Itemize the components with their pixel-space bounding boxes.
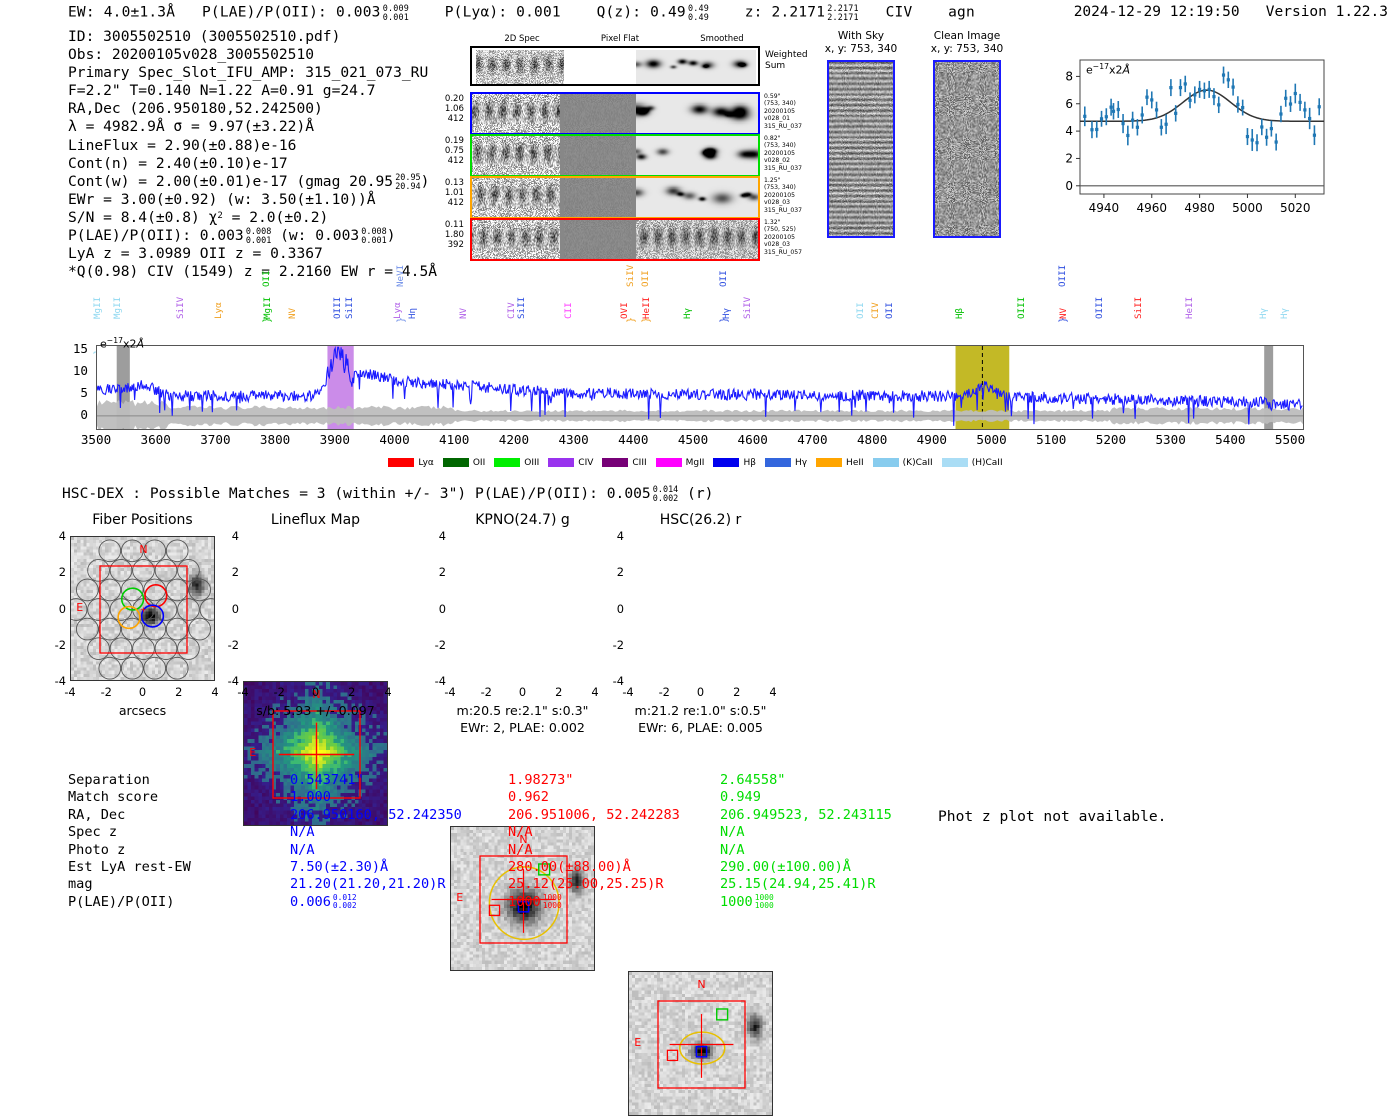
- weighted-sum-label-line-0: Weighted: [765, 50, 808, 61]
- cutout-2-xtick-1: -2: [474, 685, 498, 699]
- fiber-smoothed-1: [636, 94, 758, 133]
- svg-text:N: N: [697, 978, 705, 991]
- spectrum-xtick-4400: 4400: [603, 432, 663, 447]
- fiber-stats-3: 0.131.01412: [412, 178, 464, 209]
- legend-label-hγ: Hγ: [795, 458, 807, 468]
- spectrum-ytick-10: 10: [62, 363, 88, 378]
- match-cell-1-3: N/A: [508, 824, 680, 841]
- legend-item-heii: HeII: [816, 458, 864, 468]
- legend-label-(h)caii: (H)CaII: [972, 458, 1003, 468]
- spectrum-ytick-15: 15: [62, 341, 88, 356]
- with-sky-title-block: With Skyx, y: 753, 340: [815, 30, 907, 55]
- cutout-1-xtick-3: 2: [340, 685, 364, 699]
- legend-label-(k)caii: (K)CaII: [903, 458, 933, 468]
- cutout-1-ytick-2: 0: [221, 602, 239, 616]
- cutout-0-ytick-2: 0: [48, 602, 66, 616]
- legend-label-heii: HeII: [846, 458, 864, 468]
- spectrum-xtick-3800: 3800: [245, 432, 305, 447]
- svg-text:N: N: [139, 543, 147, 556]
- cutout-0-ytick-1: 2: [48, 565, 66, 579]
- photz-note: Phot z plot not available.: [938, 808, 1166, 825]
- legend-label-oii: OII: [473, 458, 485, 468]
- weighted-sum-row: [470, 46, 760, 86]
- match-cell-2-0: 2.64558": [720, 772, 892, 789]
- fiber-w-2: 0.19: [412, 136, 464, 146]
- spec2d-title-0: 2D Spec: [482, 34, 562, 44]
- spectrum-xtick-3500: 3500: [66, 432, 126, 447]
- legend-swatch-civ: [548, 458, 574, 467]
- match-row-label-2: RA, Dec: [68, 807, 191, 824]
- spectrum-line-label-siiv-2: SiIV: [175, 297, 186, 319]
- spectrum-line-label-lyα-3: Lyα: [213, 302, 224, 319]
- legend-item-lyα: Lyα: [388, 458, 433, 468]
- spectrum-xtick-5000: 5000: [962, 432, 1022, 447]
- spectrum-line-label-siiv-16: SiIV: [625, 265, 636, 287]
- cutout-0-xtick-2: 0: [131, 685, 155, 699]
- spectrum-xtick-5100: 5100: [1021, 432, 1081, 447]
- clean-image-coords: x, y: 753, 340: [921, 43, 1013, 56]
- fiber-meta-line-4-3: v028_03: [764, 241, 824, 248]
- fiber-n-3: 412: [412, 198, 464, 208]
- spectrum-ytick-5: 5: [62, 385, 88, 400]
- fiber-pixelflat-3: [564, 178, 632, 217]
- spectrum-xtick-4800: 4800: [842, 432, 902, 447]
- header-plae-lo: 0.001: [383, 12, 409, 22]
- spec2d-title-2: Smoothed: [682, 34, 762, 44]
- linefit-ylabel: e−17x2Å: [1086, 62, 1130, 77]
- svg-text:+: +: [141, 606, 147, 616]
- spectrum-line-label-oii-18: OII: [640, 270, 651, 287]
- match-row-label-4: Photo z: [68, 842, 191, 859]
- match-row-label-7: P(LAE)/P(OII): [68, 894, 191, 911]
- fiber-d-2: 0.75: [412, 146, 464, 156]
- spectrum-xtick-5500: 5500: [1260, 432, 1320, 447]
- cutout-1-xtick-4: 4: [376, 685, 400, 699]
- fiber-meta-line-2-4: 315_RU_037: [764, 165, 824, 172]
- spectrum-line-label-oiii-28: OIII: [1016, 297, 1027, 319]
- cutout-1-xtick-2: 0: [304, 685, 328, 699]
- match-row-label-6: mag: [68, 876, 191, 893]
- match-cell-1-6: 25.12(25.00,25.25)R: [508, 876, 680, 893]
- cutout-1-ytick-0: 4: [221, 529, 239, 543]
- spectrum-ylabel: e−17x2Å: [100, 336, 144, 351]
- fiber-meta-line-3-1: (753, 340): [764, 184, 824, 191]
- match-cell-0-5: 7.50(±2.30)Å: [290, 859, 462, 876]
- cutout-1-xtick-1: -2: [267, 685, 291, 699]
- match-cell-2-6: 25.15(24.94,25.41)R: [720, 876, 892, 893]
- spec2d-title-1: Pixel Flat: [580, 34, 660, 44]
- with-sky-title: With Sky: [815, 30, 907, 43]
- fiber-stats-1: 0.201.06412: [412, 94, 464, 125]
- match-cell-2-7: 100010001000: [720, 894, 892, 911]
- cutout-2-ytick-2: 0: [428, 602, 446, 616]
- spectrum-line-label-mgii-1: MgII: [112, 297, 123, 319]
- spectrum-line-label-siii-14: SiII: [516, 297, 527, 319]
- header-summary-line: EW: 4.0±1.3Å P(LAE)/P(OII): 0.0030.0090.…: [68, 4, 975, 21]
- timestamp: 2024-12-29 12:19:50: [1074, 4, 1240, 20]
- header-ew: EW: 4.0±1.3Å: [68, 5, 175, 21]
- legend-item-(k)caii: (K)CaII: [873, 458, 933, 468]
- fiber-d-4: 1.80: [412, 230, 464, 240]
- header-plae-value: 0.003: [336, 5, 381, 21]
- spectrum-line-label-hγ-22: Hγ: [721, 308, 732, 319]
- version-label: Version 1.22.3: [1266, 4, 1388, 20]
- cutout-3-xtick-2: 0: [689, 685, 713, 699]
- legend-item-oii: OII: [443, 458, 485, 468]
- spectrum-line-label-mgii-0: MgII: [92, 297, 103, 319]
- legend-label-mgii: MgII: [686, 458, 705, 468]
- svg-text:4980: 4980: [1184, 201, 1215, 215]
- cutout-caption-3-1: EWr: 6, PLAE: 0.005: [598, 720, 803, 735]
- cutout-1-ytick-1: 2: [221, 565, 239, 579]
- full-spectrum-plot: [96, 345, 1304, 430]
- emission-line-fit-plot: 0246849404960498050005020e−17x2Å: [1040, 48, 1332, 232]
- cutout-0-ytick-3: -2: [48, 638, 66, 652]
- info-ewr: EWr = 3.00(±0.92) (w: 3.50(±1.10))Å: [68, 191, 437, 209]
- fiber-meta-2: 0.82"(753, 340)20200105v028_02315_RU_037: [764, 135, 824, 172]
- match-cell-0-0: 0.543741": [290, 772, 462, 789]
- spectrum-xtick-4600: 4600: [723, 432, 783, 447]
- cutout-2-xtick-2: 0: [511, 685, 535, 699]
- fiber-meta-line-2-0: 0.82": [764, 135, 824, 142]
- cutout-0-xtick-1: -2: [94, 685, 118, 699]
- match-cell-2-3: N/A: [720, 824, 892, 841]
- info-seeing: F=2.2" T=0.140 N=1.22 A=0.91 g=24.7: [68, 82, 437, 100]
- legend-label-hβ: Hβ: [743, 458, 756, 468]
- spectrum-line-label-siii-32: SiII: [1133, 297, 1144, 319]
- header-agn: agn: [948, 5, 975, 21]
- with-sky-coords: x, y: 753, 340: [815, 43, 907, 56]
- legend-label-lyα: Lyα: [418, 458, 433, 468]
- spectrum-line-label-oii-26: OII: [884, 302, 895, 319]
- fiber-stats-4: 0.111.80392: [412, 220, 464, 251]
- legend-swatch-oiii: [494, 458, 520, 467]
- match-cell-0-7: 0.0060.0120.002: [290, 894, 462, 911]
- spectrum-xtick-4900: 4900: [902, 432, 962, 447]
- match-cell-0-6: 21.20(21.20,21.20)R: [290, 876, 462, 893]
- cutout-2-xtick-3: 2: [547, 685, 571, 699]
- cutout-0-ytick-4: -4: [48, 674, 66, 688]
- fiber-meta-line-3-2: 20200105: [764, 192, 824, 199]
- fiber-2dspec-1: [472, 94, 560, 133]
- fiber-meta-line-1-3: v028_01: [764, 115, 824, 122]
- legend-item-(h)caii: (H)CaII: [942, 458, 1003, 468]
- legend-swatch-hγ: [765, 458, 791, 467]
- svg-text:6: 6: [1065, 97, 1073, 111]
- header-qz: Q(z): 0.49: [597, 5, 686, 21]
- fiber-pixelflat-1: [564, 94, 632, 133]
- match-cell-1-5: 280.00(±88.00)Å: [508, 859, 680, 876]
- weighted-sum-label: WeightedSum: [765, 50, 808, 72]
- info-obs: Obs: 20200105v028_3005502510: [68, 46, 437, 64]
- hscdex-summary: HSC-DEX : Possible Matches = 3 (within +…: [62, 485, 713, 503]
- svg-text:8: 8: [1065, 69, 1073, 83]
- fiber-meta-4: 1.32"(750, 525)20200105v028_03315_RU_057: [764, 219, 824, 256]
- clean-image-cutout: [933, 60, 1001, 238]
- legend-label-ciii: CIII: [632, 458, 646, 468]
- match-column-0: 0.543741"1.000206.950160, 52.242350N/AN/…: [290, 772, 462, 911]
- header-z-lo: 2.2171: [827, 12, 859, 22]
- fiber-2dspec-2: [472, 136, 560, 175]
- spectrum-line-label-oii-21: OII: [718, 270, 729, 287]
- fiber-2dspec-3: [472, 178, 560, 217]
- fiber-meta-line-4-2: 20200105: [764, 234, 824, 241]
- spectrum-line-label-heii-33: HeII: [1184, 297, 1195, 319]
- weighted-sum-smoothed: [636, 50, 756, 84]
- fiber-smoothed-3: [636, 178, 758, 217]
- timestamp-version: 2024-12-29 12:19:50 Version 1.22.3: [1074, 4, 1388, 20]
- header-civ: CIV: [886, 5, 913, 21]
- match-cell-1-7: 100010001000: [508, 894, 680, 911]
- spectrum-line-label-hγ-20: Hγ: [682, 308, 693, 319]
- cutout-0-xtick-3: 2: [167, 685, 191, 699]
- svg-text:E: E: [634, 1036, 641, 1049]
- fiber-n-2: 412: [412, 156, 464, 166]
- cutout-caption-2-1: EWr: 2, PLAE: 0.002: [420, 720, 625, 735]
- spectrum-x-axis: 3500360037003800390040004100420043004400…: [0, 430, 1400, 454]
- match-cell-0-1: 1.000: [290, 789, 462, 806]
- svg-text:E: E: [76, 601, 83, 614]
- info-plae: P(LAE)/P(OII): 0.0030.0080.001 (w: 0.003…: [68, 227, 437, 245]
- header-z: z: 2.2171: [745, 5, 825, 21]
- spectrum-xtick-3700: 3700: [185, 432, 245, 447]
- info-redshifts: LyA z = 3.0989 OII z = 0.3367: [68, 245, 437, 263]
- match-row-label-0: Separation: [68, 772, 191, 789]
- weighted-sum-2dspec: [476, 50, 564, 84]
- spectrum-xtick-4300: 4300: [544, 432, 604, 447]
- spectrum-line-label-siiv-23: SiIV: [742, 297, 753, 319]
- spectrum-xtick-4100: 4100: [424, 432, 484, 447]
- object-info-block: ID: 3005502510 (3005502510.pdf) Obs: 202…: [68, 28, 437, 281]
- cutout-1-ytick-3: -2: [221, 638, 239, 652]
- spectrum-line-label-hβ-27: Hβ: [954, 308, 965, 319]
- fiber-w-3: 0.13: [412, 178, 464, 188]
- spectrum-xtick-4700: 4700: [782, 432, 842, 447]
- svg-text:5020: 5020: [1280, 201, 1311, 215]
- cutout-caption-3-0: m:21.2 re:1.0" s:0.5": [598, 703, 803, 718]
- match-row-label-1: Match score: [68, 789, 191, 806]
- fiber-w-1: 0.20: [412, 94, 464, 104]
- cutout-2-ytick-4: -4: [428, 674, 446, 688]
- cutout-title-2: KPNO(24.7) g: [420, 512, 625, 528]
- legend-swatch-(h)caii: [942, 458, 968, 467]
- svg-text:4960: 4960: [1136, 201, 1167, 215]
- match-table-row-labels: SeparationMatch scoreRA, DecSpec zPhoto …: [68, 772, 191, 911]
- fiber-row-1: [470, 92, 760, 135]
- match-row-label-5: Est LyA rest-EW: [68, 859, 191, 876]
- spectrum-xtick-4500: 4500: [663, 432, 723, 447]
- legend-swatch-oii: [443, 458, 469, 467]
- fiber-meta-line-1-4: 315_RU_037: [764, 123, 824, 130]
- svg-text:4940: 4940: [1089, 201, 1120, 215]
- fiber-smoothed-4: [636, 220, 758, 259]
- cutout-image-3: NE: [628, 971, 773, 1116]
- legend-swatch-mgii: [656, 458, 682, 467]
- match-cell-0-3: N/A: [290, 824, 462, 841]
- spectrum-line-label-hη-11: Hη: [407, 308, 418, 319]
- spectrum-line-label-oiii-7: OIII: [332, 297, 343, 319]
- fiber-meta-line-2-1: (753, 340): [764, 142, 824, 149]
- legend-item-hγ: Hγ: [765, 458, 807, 468]
- match-cell-1-0: 1.98273": [508, 772, 680, 789]
- legend-swatch-lyα: [388, 458, 414, 467]
- cutout-0-ytick-0: 4: [48, 529, 66, 543]
- info-sn: S/N = 8.4(±0.8) χ2 = 2.0(±0.2): [68, 209, 437, 227]
- spectrum-xtick-3900: 3900: [305, 432, 365, 447]
- fiber-meta-line-2-2: 20200105: [764, 150, 824, 157]
- match-column-2: 2.64558"0.949206.949523, 52.243115N/AN/A…: [720, 772, 892, 911]
- spectrum-line-label-oiii-31: OIII: [1094, 297, 1105, 319]
- legend-item-ciii: CIII: [602, 458, 646, 468]
- spectrum-xtick-5200: 5200: [1081, 432, 1141, 447]
- fiber-d-1: 1.06: [412, 104, 464, 114]
- spectrum-xtick-4200: 4200: [484, 432, 544, 447]
- spectrum-xtick-5300: 5300: [1141, 432, 1201, 447]
- fiber-row-4: [470, 218, 760, 261]
- svg-text:0: 0: [1065, 179, 1073, 193]
- cutout-2-ytick-1: 2: [428, 565, 446, 579]
- match-cell-2-1: 0.949: [720, 789, 892, 806]
- legend-swatch-ciii: [602, 458, 628, 467]
- info-lambda: λ = 4982.9Å σ = 9.97(±3.22)Å: [68, 118, 437, 136]
- spectrum-line-label-ovi-17: OVI: [619, 302, 630, 319]
- spectrum-line-label-nevi-9: NeVI: [395, 265, 406, 287]
- fiber-meta-1: 0.59"(753, 340)20200105v028_01315_RU_037: [764, 93, 824, 130]
- fiber-meta-3: 1.25"(753, 340)20200105v028_03315_RU_037: [764, 177, 824, 214]
- cutout-3-ytick-2: 0: [606, 602, 624, 616]
- cutout-2-xtick-4: 4: [583, 685, 607, 699]
- match-cell-0-2: 206.950160, 52.242350: [290, 807, 462, 824]
- cutout-3-ytick-3: -2: [606, 638, 624, 652]
- hscdex-text: HSC-DEX : Possible Matches = 3 (within +…: [62, 485, 651, 502]
- fiber-d-3: 1.01: [412, 188, 464, 198]
- clean-image-title-block: Clean Imagex, y: 753, 340: [921, 30, 1013, 55]
- spectrum-xtick-5400: 5400: [1200, 432, 1260, 447]
- spectrum-xtick-3600: 3600: [126, 432, 186, 447]
- cutout-2-ytick-3: -2: [428, 638, 446, 652]
- cutout-panels: Fiber Positions+NE-4-2024420-2-4arcsecsL…: [0, 512, 1400, 742]
- match-cell-1-4: N/A: [508, 842, 680, 859]
- cutout-title-1: Lineflux Map: [213, 512, 418, 528]
- info-slot: Primary Spec_Slot_IFU_AMP: 315_021_073_R…: [68, 64, 437, 82]
- fiber-meta-line-4-4: 315_RU_057: [764, 249, 824, 256]
- match-column-1: 1.98273"0.962206.951006, 52.242283N/AN/A…: [508, 772, 680, 911]
- cutout-title-3: HSC(26.2) r: [598, 512, 803, 528]
- spectrum-line-label-oii-24: OII: [855, 302, 866, 319]
- spectrum-line-label-cii-15: CII: [563, 302, 574, 319]
- match-cell-1-1: 0.962: [508, 789, 680, 806]
- cutout-caption-2-0: m:20.5 re:2.1" s:0.3": [420, 703, 625, 718]
- match-cell-2-4: N/A: [720, 842, 892, 859]
- fiber-meta-line-4-1: (750, 525): [764, 226, 824, 233]
- header-plae-label: P(LAE)/P(OII):: [202, 5, 327, 21]
- fiber-row-3: [470, 176, 760, 219]
- info-cont-w: Cont(w) = 2.00(±0.01)e-17 (gmag 20.9520.…: [68, 173, 437, 191]
- spectrum-legend: LyαOIIOIIICIVCIIIMgIIHβHγHeII(K)CaII(H)C…: [0, 452, 1400, 471]
- legend-swatch-(k)caii: [873, 458, 899, 467]
- legend-swatch-hβ: [713, 458, 739, 467]
- info-lineflux: LineFlux = 2.90(±0.88)e-16: [68, 137, 437, 155]
- fiber-w-4: 0.11: [412, 220, 464, 230]
- cutout-3-ytick-0: 4: [606, 529, 624, 543]
- legend-item-oiii: OIII: [494, 458, 539, 468]
- fiber-meta-line-1-2: 20200105: [764, 108, 824, 115]
- header-qz-lo: 0.49: [688, 12, 709, 22]
- spectrum-line-label-nv-30: NV: [1058, 308, 1069, 319]
- match-cell-0-4: N/A: [290, 842, 462, 859]
- legend-swatch-heii: [816, 458, 842, 467]
- fiber-pixelflat-2: [564, 136, 632, 175]
- fiber-2dspec-4: [472, 220, 560, 259]
- svg-text:2: 2: [1065, 151, 1073, 165]
- match-cell-2-5: 290.00(±100.00)Å: [720, 859, 892, 876]
- cutout-1-ytick-4: -4: [221, 674, 239, 688]
- fiber-meta-line-3-4: 315_RU_037: [764, 207, 824, 214]
- fiber-meta-line-3-0: 1.25": [764, 177, 824, 184]
- info-id: ID: 3005502510 (3005502510.pdf): [68, 28, 437, 46]
- spectrum-xtick-4000: 4000: [365, 432, 425, 447]
- spectrum-line-label-oiii-29: OIII: [1057, 265, 1068, 287]
- match-cell-1-2: 206.951006, 52.242283: [508, 807, 680, 824]
- svg-text:4: 4: [1065, 124, 1073, 138]
- legend-item-mgii: MgII: [656, 458, 705, 468]
- cutout-3-xtick-3: 2: [725, 685, 749, 699]
- spectrum-line-label-nv-6: NV: [287, 308, 298, 319]
- legend-item-hβ: Hβ: [713, 458, 756, 468]
- cutout-caption-1-0: s/b: 5.93 +/- 0.097: [213, 703, 418, 718]
- match-cell-2-2: 206.949523, 52.243115: [720, 807, 892, 824]
- fiber-n-1: 412: [412, 114, 464, 124]
- fiber-meta-line-1-0: 0.59": [764, 93, 824, 100]
- spectrum-line-labels: MgII}MgII}SiIV}Lyα}OII}MgII}NV}OIII}SiII…: [0, 270, 1400, 350]
- spectrum-line-label-oii-4: OII: [261, 270, 272, 287]
- fiber-meta-line-2-3: v028_02: [764, 157, 824, 164]
- header-plya: P(Lyα): 0.001: [445, 5, 561, 21]
- spectrum-line-label-lyα-10: Lyα: [392, 302, 403, 319]
- info-cont-n: Cont(n) = 2.40(±0.10)e-17: [68, 155, 437, 173]
- spectrum-line-label-hγ-35: Hγ: [1279, 308, 1290, 319]
- legend-item-civ: CIV: [548, 458, 593, 468]
- cutout-3-ytick-1: 2: [606, 565, 624, 579]
- fiber-meta-line-1-1: (753, 340): [764, 100, 824, 107]
- spectrum-ytick-0: 0: [62, 407, 88, 422]
- spectrum-line-label-mgii-5: MgII: [262, 297, 273, 319]
- spectrum-line-label-hγ-34: Hγ: [1258, 308, 1269, 319]
- info-radec: RA,Dec (206.950180,52.242500): [68, 100, 437, 118]
- fiber-meta-line-3-3: v028_03: [764, 199, 824, 206]
- with-sky-cutout: [827, 60, 895, 238]
- clean-image-title: Clean Image: [921, 30, 1013, 43]
- weighted-sum-label-line-1: Sum: [765, 61, 808, 72]
- spectrum-line-label-siii-8: SiII: [344, 297, 355, 319]
- cutout-2-ytick-0: 4: [428, 529, 446, 543]
- fiber-pixelflat-4: [564, 220, 632, 259]
- cutout-image-0: +NE: [70, 536, 215, 681]
- legend-label-civ: CIV: [578, 458, 593, 468]
- fiber-smoothed-2: [636, 136, 758, 175]
- spectrum-line-label-nv-12: NV: [458, 308, 469, 319]
- legend-label-oiii: OIII: [524, 458, 539, 468]
- svg-text:E: E: [249, 746, 256, 759]
- fiber-row-2: [470, 134, 760, 177]
- cutout-3-xtick-1: -2: [652, 685, 676, 699]
- spectrum-line-label-civ-25: CIV: [870, 302, 881, 319]
- cutout-3-ytick-4: -4: [606, 674, 624, 688]
- svg-text:5000: 5000: [1232, 201, 1263, 215]
- match-row-label-3: Spec z: [68, 824, 191, 841]
- spectrum-line-label-heii-19: HeII: [641, 297, 652, 319]
- fiber-n-4: 392: [412, 240, 464, 250]
